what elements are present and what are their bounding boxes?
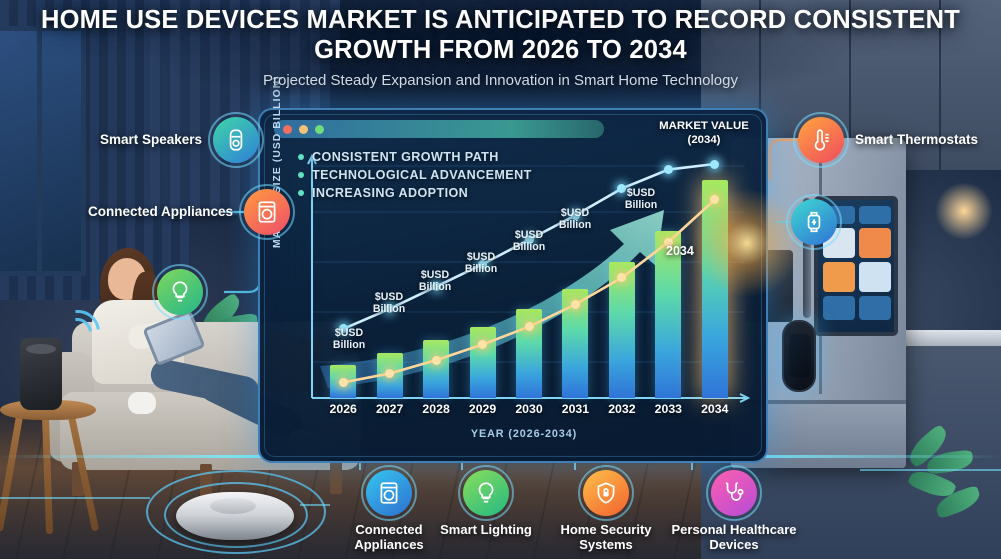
x-tick-2029: 2029 bbox=[461, 402, 505, 416]
house-plant-right bbox=[901, 430, 991, 550]
sidebar-item-wearables[interactable] bbox=[791, 199, 837, 245]
sidebar-item-personal-healthcare-devices[interactable]: Personal Healthcare Devices bbox=[669, 470, 799, 552]
fitness-tracker-band bbox=[782, 320, 816, 392]
line-year-annotation: 2034 bbox=[666, 244, 694, 258]
x-tick-2026: 2026 bbox=[321, 402, 365, 416]
washer-icon[interactable] bbox=[366, 470, 412, 516]
smart-thermostats-label: Smart Thermostats bbox=[855, 132, 978, 147]
sidebar-item-smart-lighting[interactable]: Smart Lighting bbox=[438, 470, 534, 538]
sidebar-item-smart-lighting-left[interactable] bbox=[157, 269, 203, 315]
shield-lock-icon[interactable] bbox=[583, 470, 629, 516]
sidebar-item-home-security-systems[interactable]: Home Security Systems bbox=[551, 470, 661, 552]
smart-lighting-label: Smart Lighting bbox=[438, 523, 534, 538]
home-security-systems-label: Home Security Systems bbox=[551, 523, 661, 552]
window-dot-red[interactable] bbox=[283, 125, 292, 134]
page-subtitle: Projected Steady Expansion and Innovatio… bbox=[0, 72, 1001, 89]
kitchen-lamp-glow bbox=[935, 182, 993, 240]
x-axis-ticks: 202620272028202920302031203220332034 bbox=[294, 152, 754, 452]
stethoscope-icon[interactable] bbox=[711, 470, 757, 516]
x-tick-2027: 2027 bbox=[368, 402, 412, 416]
market-value-callout: MARKET VALUE (2034) bbox=[644, 120, 764, 147]
callout-line-1: MARKET VALUE bbox=[644, 120, 764, 134]
smartwatch-icon[interactable] bbox=[791, 199, 837, 245]
chart-panel: CONSISTENT GROWTH PATH TECHNOLOGICAL ADV… bbox=[258, 108, 768, 463]
page-title: HOME USE DEVICES MARKET IS ANTICIPATED T… bbox=[0, 6, 1001, 65]
washer-icon[interactable] bbox=[244, 189, 290, 235]
connected-appliances-bottom-label: Connected Appliances bbox=[336, 523, 442, 552]
x-tick-2034: 2034 bbox=[693, 402, 737, 416]
sidebar-item-smart-speakers[interactable]: Smart Speakers bbox=[100, 117, 259, 163]
person-sock bbox=[128, 392, 156, 414]
smart-speaker-device bbox=[20, 338, 62, 410]
sidebar-item-connected-appliances-bottom[interactable]: Connected Appliances bbox=[336, 470, 442, 552]
callout-line-2: (2034) bbox=[644, 134, 764, 148]
speaker-icon[interactable] bbox=[213, 117, 259, 163]
smart-speakers-label: Smart Speakers bbox=[100, 132, 202, 147]
personal-healthcare-devices-label: Personal Healthcare Devices bbox=[669, 523, 799, 552]
robot-vacuum bbox=[176, 492, 294, 540]
x-tick-2033: 2033 bbox=[646, 402, 690, 416]
chart-plot-area: MARKET SIZE (USD BILLION) YEAR (2026-203… bbox=[294, 152, 754, 452]
bulb-icon[interactable] bbox=[157, 269, 203, 315]
thermometer-icon[interactable] bbox=[798, 117, 844, 163]
x-tick-2032: 2032 bbox=[600, 402, 644, 416]
bulb-icon[interactable] bbox=[463, 470, 509, 516]
window-dot-amber[interactable] bbox=[299, 125, 308, 134]
sidebar-item-smart-thermostats[interactable]: Smart Thermostats bbox=[798, 117, 978, 163]
header: HOME USE DEVICES MARKET IS ANTICIPATED T… bbox=[0, 6, 1001, 89]
x-tick-2031: 2031 bbox=[553, 402, 597, 416]
x-tick-2030: 2030 bbox=[507, 402, 551, 416]
x-tick-2028: 2028 bbox=[414, 402, 458, 416]
window-dot-green[interactable] bbox=[315, 125, 324, 134]
connected-appliances-label: Connected Appliances bbox=[88, 204, 233, 219]
window-chrome-bar bbox=[274, 120, 604, 138]
sidebar-item-connected-appliances[interactable]: Connected Appliances bbox=[88, 189, 290, 235]
